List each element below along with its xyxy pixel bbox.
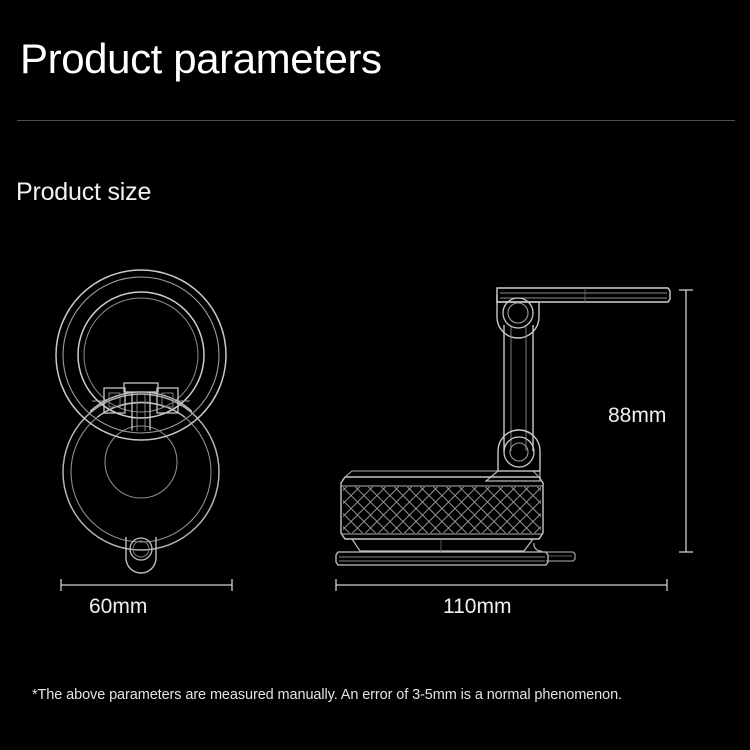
dimension-label-width-right: 110mm bbox=[443, 596, 511, 617]
lamp-head-arm bbox=[497, 288, 670, 302]
head-outer-ring-inner-edge bbox=[63, 277, 219, 433]
dimension-line-width-right bbox=[336, 579, 667, 591]
page-title: Product parameters bbox=[20, 38, 382, 80]
dimension-label-width-left: 60mm bbox=[89, 596, 147, 617]
base-inner-circle bbox=[71, 402, 211, 542]
base-lattice-texture bbox=[343, 487, 541, 533]
product-diagrams bbox=[0, 255, 750, 625]
footnote-text: *The above parameters are measured manua… bbox=[32, 687, 622, 704]
lamp-top-view bbox=[56, 270, 226, 573]
technical-drawing-svg bbox=[0, 255, 750, 625]
lamp-foot bbox=[336, 539, 548, 565]
lower-hinge bbox=[486, 430, 540, 481]
dimension-label-height-right: 88mm bbox=[608, 405, 666, 426]
head-outer-ring bbox=[56, 270, 226, 440]
product-parameters-page: Product parameters Product size bbox=[0, 0, 750, 750]
dimension-line-width-left bbox=[61, 579, 232, 591]
title-divider bbox=[17, 120, 735, 121]
head-inner-ring-edge bbox=[84, 298, 198, 412]
section-subtitle: Product size bbox=[16, 180, 151, 205]
head-inner-ring bbox=[78, 292, 204, 418]
dimension-line-height-right bbox=[679, 290, 693, 552]
